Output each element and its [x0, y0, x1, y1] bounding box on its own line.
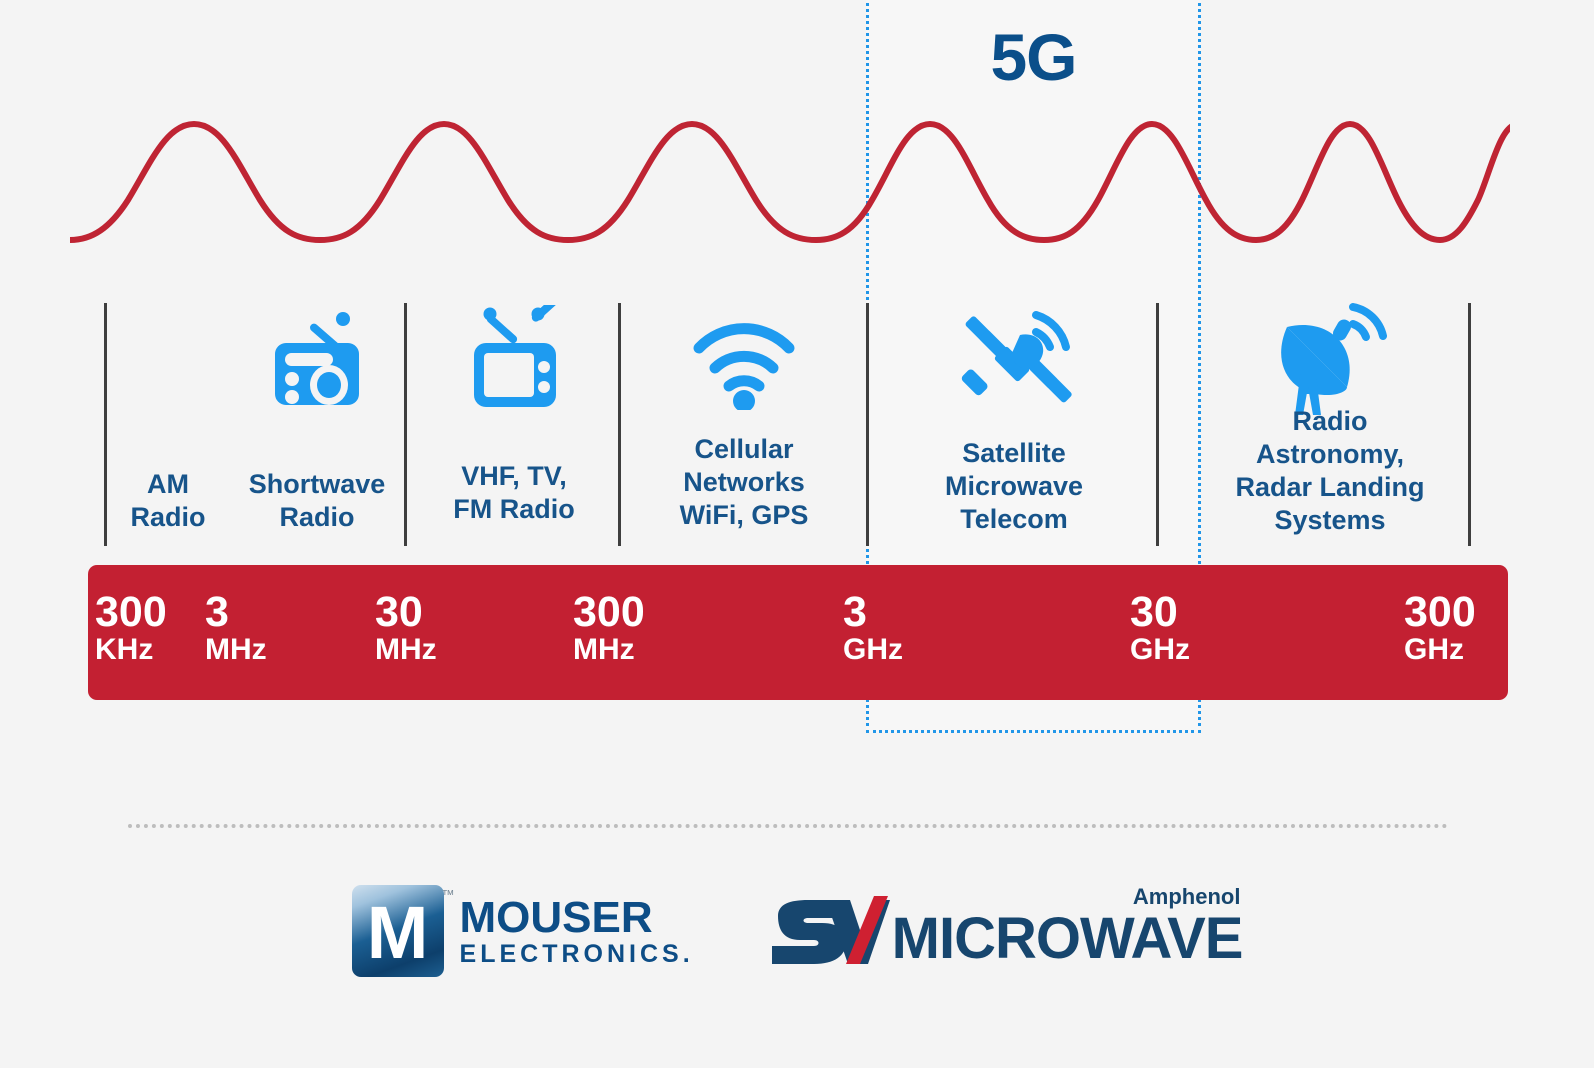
amphenol-brand-label: Amphenol [1133, 884, 1241, 910]
band-label-satellite: Satellite Microwave Telecom [870, 437, 1158, 536]
mouser-wordmark-line2: ELECTRONICS. [460, 942, 694, 967]
trademark-symbol: ™ [442, 887, 455, 902]
mouser-badge-letter: M [367, 896, 429, 970]
footer-logos: M ™ MOUSER ELECTRONICS. Amphenol MICROWA… [0, 885, 1594, 977]
divider-tick-3ghz [866, 303, 869, 546]
radio-icon [232, 300, 402, 420]
band-cellular: Cellular Networks WiFi, GPS [622, 300, 866, 420]
band-label-shortwave-radio: Shortwave Radio [232, 468, 402, 534]
band-radio-astronomy: Radio Astronomy, Radar Landing Systems [1190, 300, 1470, 420]
freq-tick-300ghz: 300 GHz [1404, 591, 1476, 665]
footer-divider [128, 824, 1448, 828]
freq-tick-3mhz: 3 MHz [205, 591, 267, 665]
mouser-electronics-logo: M ™ MOUSER ELECTRONICS. [352, 885, 694, 977]
mouser-badge-icon: M ™ [352, 885, 444, 977]
freq-tick-300mhz: 300 MHz [573, 591, 645, 665]
sv-mark-icon [764, 894, 890, 968]
satellite-icon [870, 300, 1158, 420]
5g-label: 5G [866, 24, 1201, 90]
band-shortwave-radio: Shortwave Radio [232, 300, 402, 420]
freq-tick-30mhz: 30 MHz [375, 591, 437, 665]
freq-tick-30ghz: 30 GHz [1130, 591, 1190, 665]
wifi-icon [622, 300, 866, 420]
band-label-radio-astronomy: Radio Astronomy, Radar Landing Systems [1190, 405, 1470, 537]
freq-tick-300khz: 300 KHz [95, 591, 167, 665]
sv-microwave-wordmark: MICROWAVE [892, 906, 1243, 971]
mouser-wordmark: MOUSER ELECTRONICS. [460, 896, 694, 967]
band-vhf-tv-fm: VHF, TV, FM Radio [408, 300, 620, 420]
frequency-scale-bar: 300 KHz 3 MHz 30 MHz 300 MHz 3 GHz 30 GH… [88, 565, 1508, 700]
sv-microwave-logo: Amphenol MICROWAVE [764, 894, 1243, 968]
freq-tick-3ghz: 3 GHz [843, 591, 903, 665]
mouser-wordmark-line1: MOUSER [460, 896, 694, 940]
frequency-waveform [70, 100, 1510, 260]
band-label-am-radio: AM Radio [104, 468, 232, 534]
television-icon [408, 300, 620, 420]
infographic-canvas: 5G AM Radio [0, 0, 1594, 1068]
band-label-vhf-tv-fm: VHF, TV, FM Radio [408, 460, 620, 526]
divider-tick-30mhz [404, 303, 407, 546]
band-satellite: Satellite Microwave Telecom [870, 300, 1158, 420]
band-label-cellular: Cellular Networks WiFi, GPS [622, 433, 866, 532]
satellite-dish-icon [1190, 300, 1470, 420]
